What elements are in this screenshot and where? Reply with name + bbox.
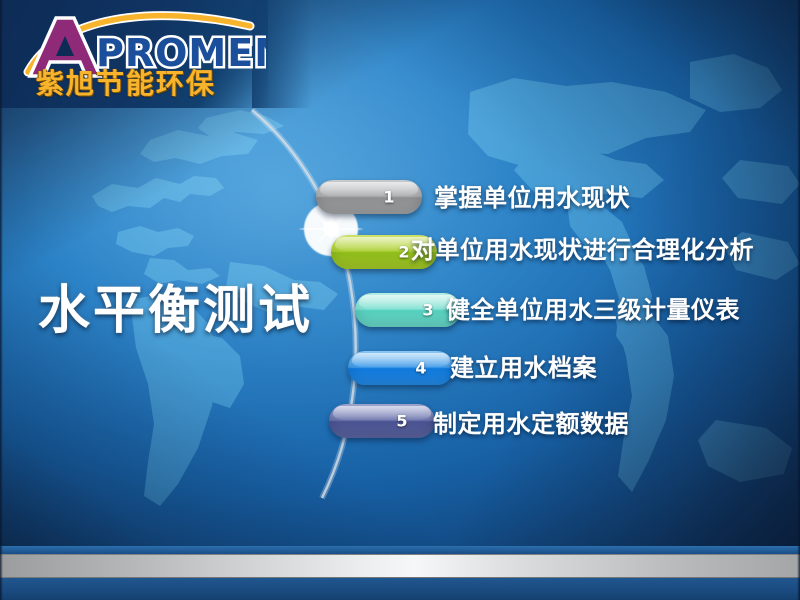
- step-number-3: 3: [422, 301, 433, 320]
- step-label-4: 建立用水档案: [450, 348, 597, 383]
- page-title: 水平衡测试: [38, 268, 313, 343]
- step-label-2: 对单位用水现状进行合理化分析: [411, 230, 754, 265]
- slide-canvas: PROMEN PROMEN 紫旭节能环保 水平衡测试 1 掌握单位用水现状 2 …: [0, 0, 800, 600]
- step-number-1: 1: [383, 188, 394, 207]
- step-number-5: 5: [396, 412, 407, 431]
- footer-accent-bar-bottom: [0, 578, 800, 600]
- step-number-4: 4: [415, 359, 426, 378]
- brand-chinese-name: 紫旭节能环保: [36, 62, 216, 102]
- step-pill-1[interactable]: 1: [316, 180, 422, 214]
- step-pill-4[interactable]: 4: [348, 351, 454, 385]
- step-number-2: 2: [398, 243, 409, 262]
- footer-silver-bar: [0, 554, 800, 578]
- step-pill-5[interactable]: 5: [329, 404, 435, 438]
- footer-accent-bar-top: [0, 546, 800, 554]
- step-label-1: 掌握单位用水现状: [434, 178, 630, 213]
- slide-edge-left: [0, 0, 3, 600]
- step-label-5: 制定用水定额数据: [433, 404, 629, 439]
- step-label-3: 健全单位用水三级计量仪表: [446, 290, 740, 325]
